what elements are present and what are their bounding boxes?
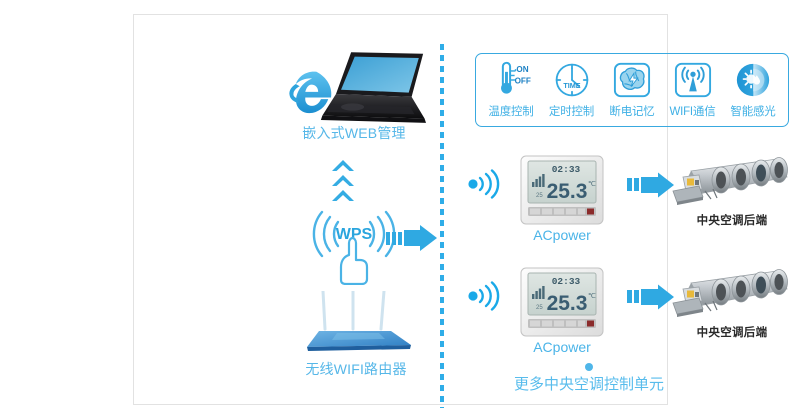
- feature-label: 智能感光: [730, 103, 775, 119]
- wifi-antenna-icon: [674, 60, 712, 100]
- wifi-router-icon: [297, 291, 413, 353]
- more-units-label: 更多中央空调控制单元: [464, 373, 714, 394]
- right-arrow-icon: [386, 224, 438, 252]
- right-arrow-icon: [627, 284, 675, 310]
- feature-label: 温度控制: [488, 103, 533, 119]
- feature-light-sensing: 智能感光: [724, 60, 782, 119]
- control-unit-row: 25 02:33 25.3 ℃ ACpower: [464, 267, 794, 367]
- lcd-unit: ℃: [588, 293, 596, 300]
- clock-timer-icon: TIME: [552, 60, 592, 100]
- thermometer-onoff-icon: ON OFF: [491, 60, 531, 100]
- ellipsis-dot-icon: [585, 363, 593, 371]
- thermostat-on-text: ON: [516, 65, 528, 74]
- feature-temperature-control: ON OFF 温度控制: [482, 60, 540, 119]
- lcd-temperature: 25.3: [547, 180, 588, 203]
- pointing-hand-icon: [341, 238, 367, 284]
- device-label: ACpower: [500, 227, 624, 243]
- light-sensor-icon: [734, 60, 772, 100]
- lcd-unit: ℃: [588, 181, 596, 188]
- fan-coil-unit-icon: [669, 267, 795, 325]
- ac-unit-label: 中央空调后端: [664, 324, 800, 340]
- lcd-small-value: 25: [536, 305, 543, 311]
- wifi-broadcast-icon: [467, 169, 503, 199]
- chevron-up-icon: [330, 158, 356, 204]
- laptop-label: 嵌入式WEB管理: [279, 123, 429, 143]
- clock-time-text: TIME: [563, 81, 580, 90]
- lcd-temperature: 25.3: [547, 292, 588, 315]
- feature-timer-control: TIME 定时控制: [543, 60, 601, 119]
- feature-label: 断电记忆: [609, 103, 654, 119]
- diagram-panel: 嵌入式WEB管理 WPS: [133, 14, 668, 405]
- lcd-time: 02:33: [552, 276, 581, 287]
- diagram-canvas: 嵌入式WEB管理 WPS: [0, 0, 800, 420]
- thermostat-icon[interactable]: 25 02:33 25.3 ℃: [520, 267, 604, 337]
- control-unit-row: 25 02:33 25.3 ℃ ACpower: [464, 155, 794, 255]
- brain-memory-icon: [613, 60, 651, 100]
- right-arrow-icon: [627, 172, 675, 198]
- ac-unit-label: 中央空调后端: [664, 212, 800, 228]
- router-label: 无线WIFI路由器: [266, 359, 446, 379]
- section-divider: [440, 43, 444, 408]
- feature-label: WIFI通信: [669, 103, 715, 119]
- feature-label: 定时控制: [549, 103, 594, 119]
- thermostat-icon[interactable]: 25 02:33 25.3 ℃: [520, 155, 604, 225]
- wifi-broadcast-icon: [467, 281, 503, 311]
- device-label: ACpower: [500, 339, 624, 355]
- feature-power-off-memory: 断电记忆: [603, 60, 661, 119]
- feature-list: ON OFF 温度控制: [475, 53, 789, 127]
- fan-coil-unit-icon: [669, 155, 795, 213]
- thermostat-off-text: OFF: [515, 77, 531, 86]
- lcd-small-value: 25: [536, 193, 543, 199]
- feature-wifi-communication: WIFI通信: [664, 60, 722, 119]
- laptop-icon: [318, 49, 426, 129]
- lcd-time: 02:33: [552, 164, 581, 175]
